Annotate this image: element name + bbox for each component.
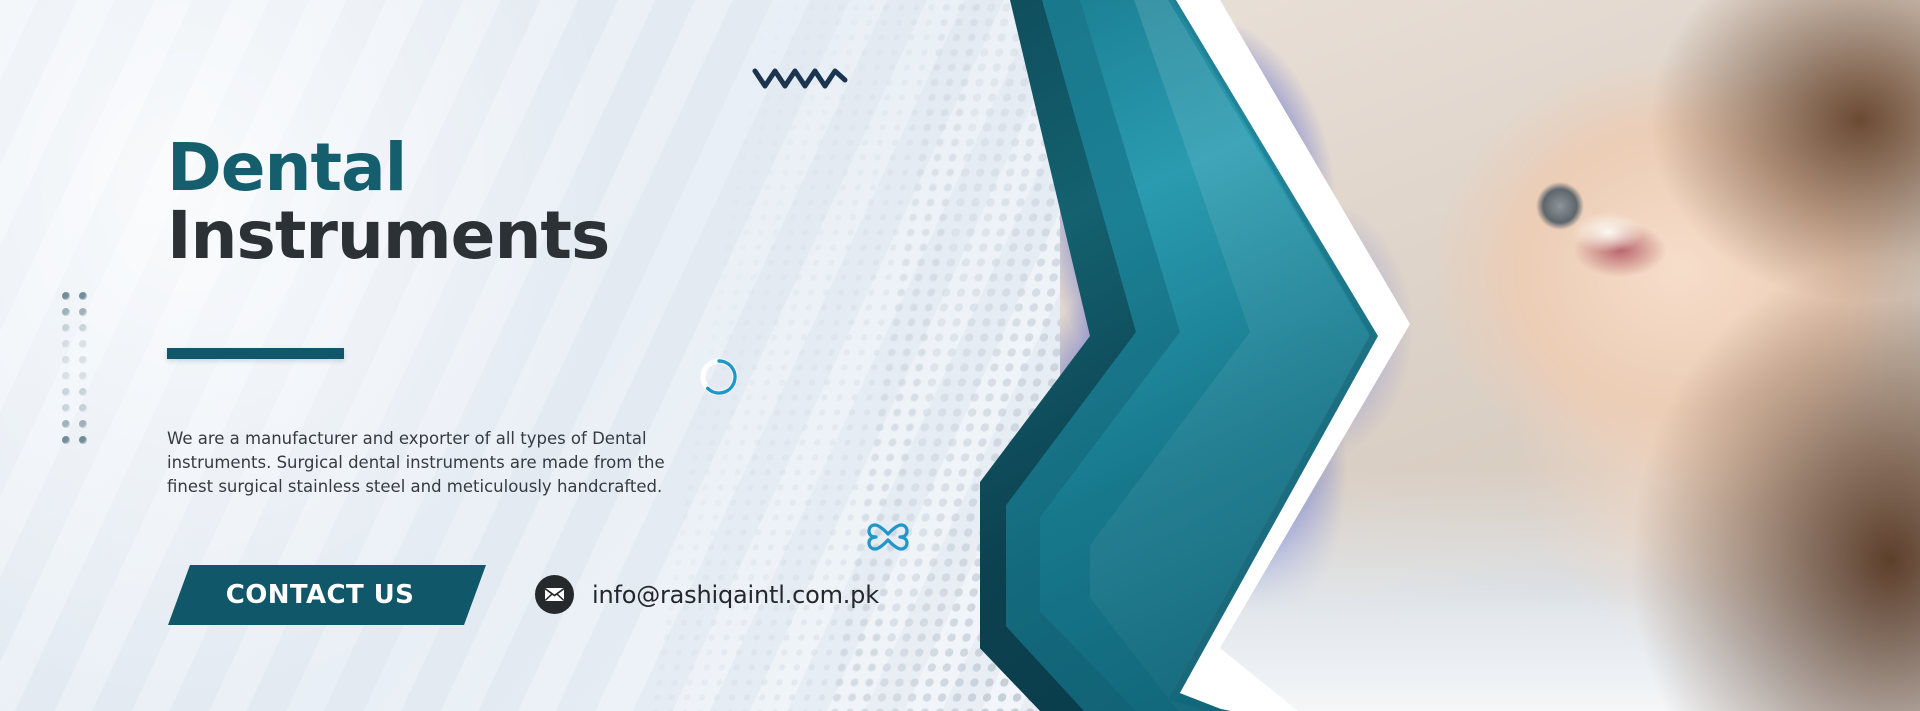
description-text: We are a manufacturer and exporter of al…	[167, 427, 692, 499]
banner-content: Dental Instruments We are a manufacturer…	[0, 0, 1060, 711]
page-title: Dental Instruments	[167, 136, 609, 268]
email-contact[interactable]: info@rashiqaintl.com.pk	[535, 575, 879, 614]
email-address[interactable]: info@rashiqaintl.com.pk	[592, 581, 879, 609]
cta-container: CONTACT US	[168, 565, 486, 625]
hero-banner: Dental Instruments We are a manufacturer…	[0, 0, 1920, 711]
envelope-icon	[535, 575, 574, 614]
contact-us-button[interactable]: CONTACT US	[168, 565, 486, 625]
headline-line-1: Dental	[167, 136, 609, 199]
headline-line-2: Instruments	[167, 204, 609, 267]
title-underline-rule	[167, 348, 344, 359]
